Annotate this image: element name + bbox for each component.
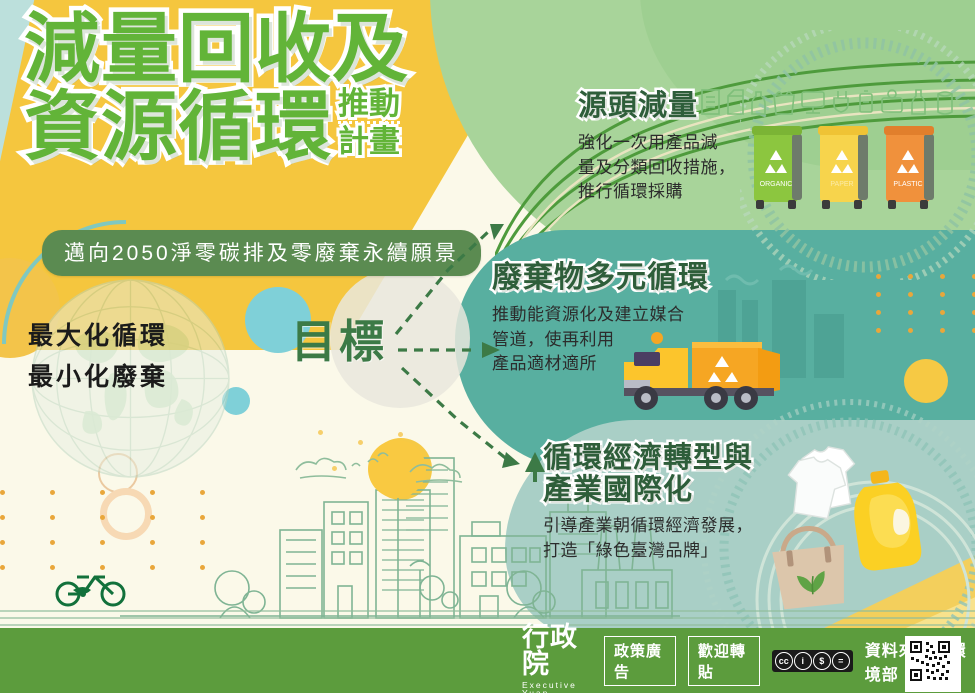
card-body-line: 推動能資源化及建立媒合	[492, 303, 709, 328]
card-title-line: 循環經濟轉型與	[543, 442, 753, 474]
can-icon	[938, 92, 952, 114]
creative-commons-icon[interactable]: cci $=	[772, 650, 853, 672]
bin-paper: PAPER	[818, 126, 868, 209]
goal-label: 目標	[291, 305, 387, 370]
decor-circle-yellow-right	[904, 359, 948, 403]
carton-icon	[728, 90, 743, 114]
qr-code-icon[interactable]	[905, 636, 961, 692]
title-line-2: 資源循環	[24, 92, 332, 165]
card-title: 循環經濟轉型與 產業國際化	[543, 442, 753, 507]
card-body-line: 強化一次用產品減	[578, 131, 736, 156]
card-body-line: 引導產業朝循環經濟發展，	[543, 514, 753, 539]
bin-organic: ORGANIC	[752, 126, 802, 209]
policy-ad-badge[interactable]: 政策廣告	[604, 636, 676, 686]
card-circular-economy: 循環經濟轉型與 產業國際化 引導產業朝循環經濟發展， 打造「綠色臺灣品牌」	[543, 442, 753, 563]
garbage-truck-illustration	[610, 328, 790, 414]
share-welcome-badge[interactable]: 歡迎轉貼	[688, 636, 760, 686]
title-line-1: 減量回收及	[24, 14, 494, 87]
card-body-line: 推行循環採購	[578, 180, 736, 205]
tote-bag-icon	[766, 522, 862, 612]
executive-yuan-logo: 行政院 Executive Yuan	[522, 624, 592, 693]
plug-icon	[834, 91, 848, 112]
slogan-line-2: 最小化廢棄	[28, 357, 168, 398]
card-title-line: 產業國際化	[543, 474, 753, 506]
bicycle-icon	[55, 568, 127, 608]
monitor-icon	[802, 92, 824, 113]
appliance-icon	[882, 90, 902, 112]
glass-bottle-icon	[912, 90, 925, 114]
decor-dot-grid-right	[876, 274, 975, 334]
slogan-line-1: 最大化循環	[28, 316, 168, 357]
recycling-bins-illustration: ORGANIC PAPER PLASTIC	[748, 120, 944, 216]
slogan-block: 最大化循環 最小化廢棄	[28, 316, 168, 397]
plastic-bag-icon	[774, 92, 794, 114]
org-name-en: Executive Yuan	[522, 681, 592, 693]
battery-icon	[860, 91, 872, 112]
document-icon	[702, 90, 719, 114]
detergent-bottle-icon	[851, 468, 929, 574]
subtitle-top: 推動	[338, 87, 400, 120]
org-name-cn: 行政院	[522, 624, 592, 678]
card-body: 引導產業朝循環經濟發展， 打造「綠色臺灣品牌」	[543, 514, 753, 563]
svg-text:PLASTIC: PLASTIC	[893, 181, 922, 188]
card-body-line: 打造「綠色臺灣品牌」	[543, 539, 753, 564]
tree-icon	[520, 450, 550, 484]
card-title: 廢棄物多元循環	[492, 252, 709, 296]
bin-plastic: PLASTIC	[884, 126, 934, 209]
card-body: 強化一次用產品減 量及分類回收措施， 推行循環採購	[578, 131, 736, 205]
svg-text:PAPER: PAPER	[830, 181, 853, 188]
card-body-line: 量及分類回收措施，	[578, 156, 736, 181]
bottle-icon	[752, 92, 765, 114]
reduction-icon-row	[700, 86, 970, 120]
footer-bar: 行政院 Executive Yuan 政策廣告 歡迎轉貼 cci $= 資料來源…	[0, 628, 975, 693]
svg-text:ORGANIC: ORGANIC	[760, 181, 793, 188]
poster-canvas: 減量回收及 資源循環 推動 計畫 邁向2050淨零碳排及零廢棄永續願景 最大化循…	[0, 0, 975, 693]
